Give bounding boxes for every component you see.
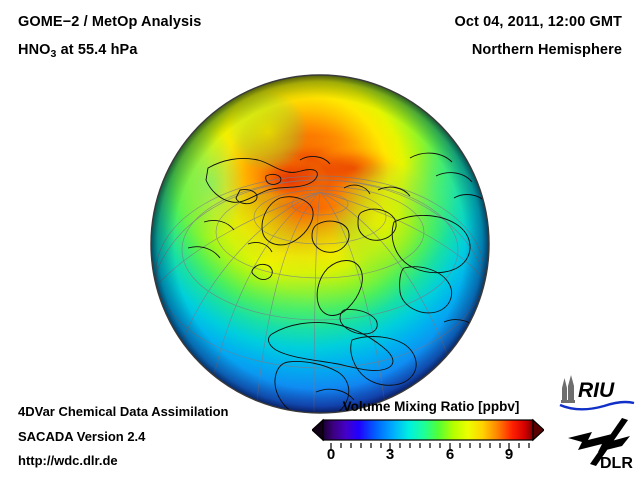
footer-url[interactable]: http://wdc.dlr.de: [18, 453, 118, 468]
colorbar-tick-label-6: 6: [430, 446, 470, 463]
colorbar-extend-low: [312, 420, 323, 440]
riu-logo-svg: RIU: [556, 372, 636, 412]
globe-svg: [148, 72, 496, 420]
colorbar-svg: [312, 418, 544, 442]
riu-wave-icon: [560, 402, 634, 409]
globe-map: [148, 72, 496, 420]
species-name: HNO: [18, 42, 51, 58]
observation-datetime: Oct 04, 2011, 12:00 GMT: [454, 14, 622, 30]
colorbar-title: Volume Mixing Ratio [ppbv]: [318, 399, 544, 414]
footer-version: SACADA Version 2.4: [18, 429, 145, 444]
colorbar-tick-label-9: 9: [489, 446, 529, 463]
colorbar-tick-label-0: 0: [311, 446, 351, 463]
colorbar: [312, 418, 544, 442]
footer-method: 4DVar Chemical Data Assimilation: [18, 404, 229, 419]
cathedral-towers-icon: [561, 375, 575, 403]
dlr-logo: DLR: [566, 414, 640, 472]
page-title-species: HNO3 at 55.4 hPa: [18, 42, 137, 60]
colorbar-extend-high: [533, 420, 544, 440]
species-level: at 55.4 hPa: [56, 42, 137, 58]
colorbar-tick-label-3: 3: [370, 446, 410, 463]
region-label: Northern Hemisphere: [472, 42, 622, 58]
dlr-logo-text: DLR: [600, 455, 633, 472]
riu-logo: RIU: [556, 372, 636, 412]
dlr-logo-svg: DLR: [566, 414, 640, 472]
page-title-instrument: GOME−2 / MetOp Analysis: [18, 14, 201, 30]
colorbar-gradient: [323, 420, 533, 440]
riu-logo-text: RIU: [578, 379, 615, 402]
globe-field: [151, 75, 489, 420]
